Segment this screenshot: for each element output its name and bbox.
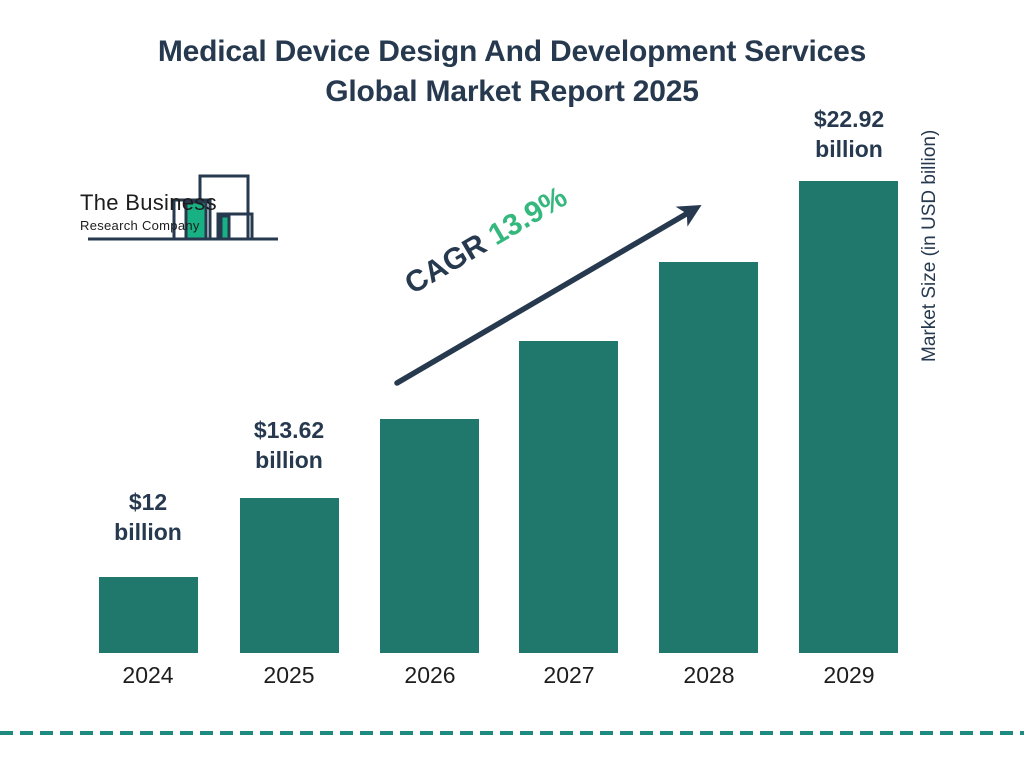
x-label-2025: 2025 [219,662,359,689]
bar-2028 [659,262,758,653]
bar-value-2024: $12 billion [78,487,218,548]
cagr-label: CAGR 13.9% [400,182,572,300]
bar-2026 [380,419,479,653]
x-label-2027: 2027 [499,662,639,689]
logo-line-secondary: Research Company [80,219,217,232]
cagr-word: CAGR [399,228,492,301]
bar-2025 [240,498,339,653]
logo-line-primary: The Business [80,192,217,214]
y-axis-title: Market Size (in USD billion) [913,22,947,362]
bottom-divider [0,731,1024,735]
logo-text: The Business Research Company [80,192,217,232]
x-label-2029: 2029 [779,662,919,689]
x-label-2028: 2028 [639,662,779,689]
x-label-2026: 2026 [360,662,500,689]
market-report-chart: Medical Device Design And Development Se… [0,0,1024,768]
bar-2024 [99,577,198,653]
bar-2027 [519,341,618,653]
x-label-2024: 2024 [78,662,218,689]
cagr-percent: 13.9% [483,180,573,252]
bar-2029 [799,181,898,653]
bar-value-2029: $22.92 billion [779,104,919,165]
plot-area: $12 billion $13.62 billion $22.92 billio… [0,0,1024,768]
bar-value-2025: $13.62 billion [219,415,359,476]
